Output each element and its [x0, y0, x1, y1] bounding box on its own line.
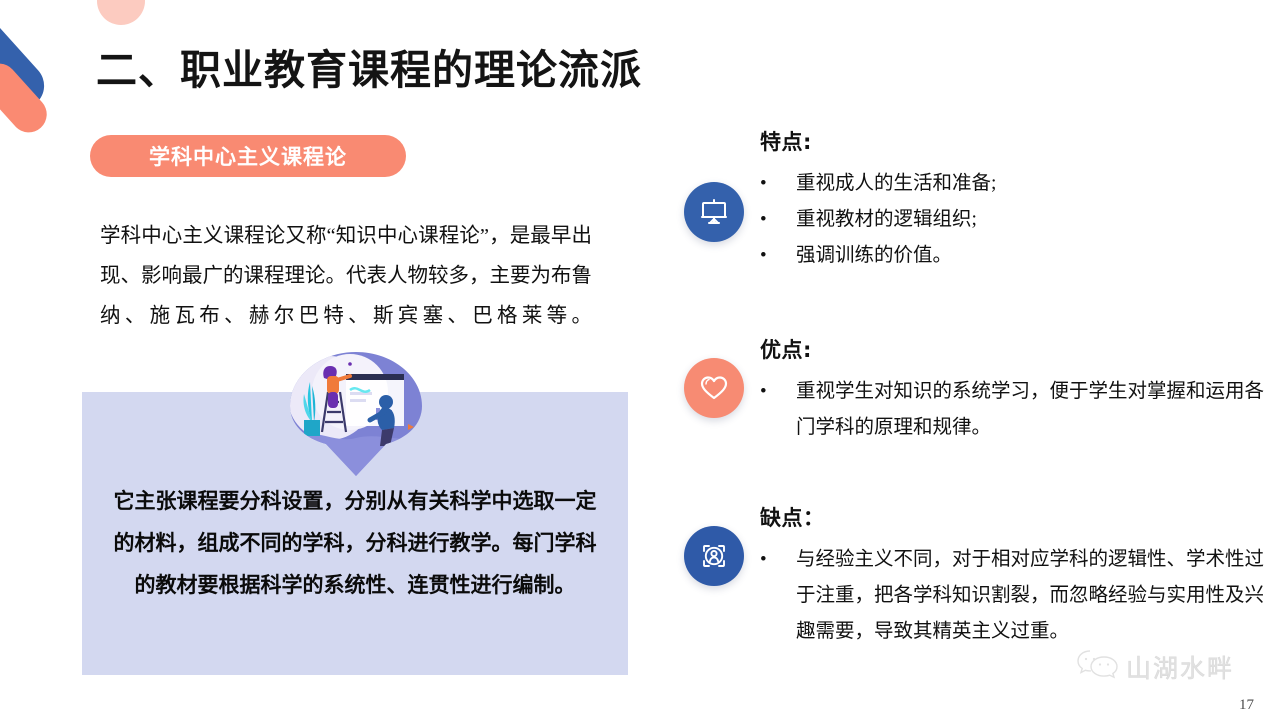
feature-block-advantages: 优点: • 重视学生对知识的系统学习，便于学生对掌握和运用各门学科的原理和规律。: [668, 334, 1268, 446]
section-badge-label: 学科中心主义课程论: [149, 141, 347, 171]
bullet-item: • 重视学生对知识的系统学习，便于学生对掌握和运用各门学科的原理和规律。: [760, 374, 1268, 446]
user-target-icon[interactable]: [684, 526, 744, 586]
feature-block-characteristics: 特点: • 重视成人的生活和准备; • 重视教材的逻辑组织; • 强调训练的价值…: [668, 126, 1268, 274]
feature-heading: 特点:: [760, 126, 1268, 156]
bullet-text: 重视教材的逻辑组织;: [796, 202, 1268, 238]
heart-icon[interactable]: [684, 358, 744, 418]
feature-body: 优点: • 重视学生对知识的系统学习，便于学生对掌握和运用各门学科的原理和规律。: [760, 334, 1268, 446]
feature-heading: 缺点：: [760, 502, 1268, 532]
intro-paragraph: 学科中心主义课程论又称“知识中心课程论”，是最早出现、影响最广的课程理论。代表人…: [100, 216, 592, 336]
icon-column: [668, 502, 760, 586]
bullet-text: 重视学生对知识的系统学习，便于学生对掌握和运用各门学科的原理和规律。: [796, 374, 1268, 446]
presentation-screen-icon[interactable]: [684, 182, 744, 242]
page-number: 17: [1239, 697, 1254, 714]
bullet-item: • 重视教材的逻辑组织;: [760, 202, 1268, 238]
watermark-text: 山湖水畔: [1126, 649, 1234, 685]
bullet-glyph: •: [760, 542, 796, 578]
bullet-item: • 与经验主义不同，对于相对应学科的逻辑性、学术性过于注重，把各学科知识割裂，而…: [760, 542, 1268, 650]
watermark: 山湖水畔: [1076, 648, 1234, 685]
bullet-text: 重视成人的生活和准备;: [796, 166, 1268, 202]
bullet-glyph: •: [760, 374, 796, 410]
feature-body: 缺点： • 与经验主义不同，对于相对应学科的逻辑性、学术性过于注重，把各学科知识…: [760, 502, 1268, 650]
decorative-circle-pink: [97, 0, 145, 25]
icon-column: [668, 126, 760, 242]
bullet-text: 与经验主义不同，对于相对应学科的逻辑性、学术性过于注重，把各学科知识割裂，而忽略…: [796, 542, 1268, 650]
page-title: 二、职业教育课程的理论流派: [96, 36, 642, 96]
bullet-glyph: •: [760, 166, 796, 202]
bullet-glyph: •: [760, 238, 796, 274]
feature-block-disadvantages: 缺点： • 与经验主义不同，对于相对应学科的逻辑性、学术性过于注重，把各学科知识…: [668, 502, 1268, 650]
icon-column: [668, 334, 760, 418]
bullet-glyph: •: [760, 202, 796, 238]
feature-body: 特点: • 重视成人的生活和准备; • 重视教材的逻辑组织; • 强调训练的价值…: [760, 126, 1268, 274]
wechat-icon: [1076, 648, 1118, 685]
bullet-item: • 强调训练的价值。: [760, 238, 1268, 274]
teamwork-whiteboard-illustration: [290, 352, 422, 477]
feature-heading: 优点:: [760, 334, 1268, 364]
section-badge: 学科中心主义课程论: [90, 135, 406, 177]
bullet-text: 强调训练的价值。: [796, 238, 1268, 274]
bullet-item: • 重视成人的生活和准备;: [760, 166, 1268, 202]
quote-text: 它主张课程要分科设置，分别从有关科学中选取一定的材料，组成不同的学科，分科进行教…: [104, 480, 606, 606]
